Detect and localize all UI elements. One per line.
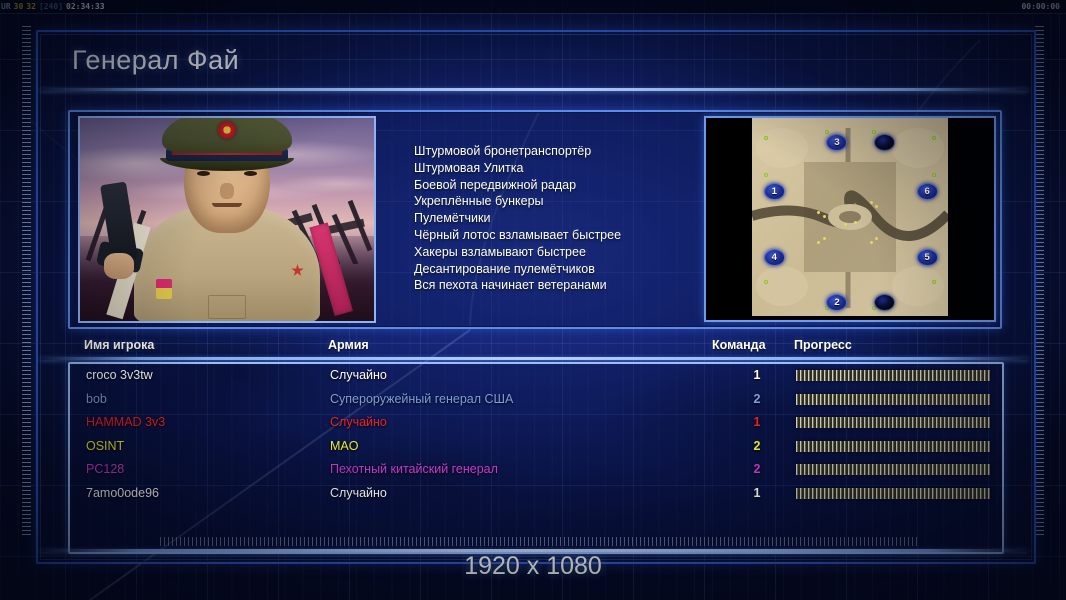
ability-item: Штурмовой бронетранспортёр xyxy=(414,143,704,160)
minimap-preview: 3 1 6 4 5 2 xyxy=(704,116,996,322)
player-name: bob xyxy=(86,388,107,412)
player-progress xyxy=(796,488,990,499)
table-row[interactable]: HAMMAD 3v3Случайно1 xyxy=(70,411,1000,435)
column-header-army: Армия xyxy=(328,338,369,352)
player-army: Пехотный китайский генерал xyxy=(330,458,498,482)
portrait-nose xyxy=(220,183,234,199)
table-row[interactable]: OSINTMAO2 xyxy=(70,435,1000,459)
minimap-terrain-features xyxy=(752,118,948,316)
hud-label: UR xyxy=(1,0,11,13)
hud-value-bracket: [240] xyxy=(39,0,63,13)
player-table-body: croco 3v3twСлучайно1bobСупероружейный ге… xyxy=(70,364,1000,505)
ability-item: Вся пехота начинает ветеранами xyxy=(414,277,704,294)
map-start-position[interactable] xyxy=(874,294,895,311)
hud-value-1: 30 xyxy=(14,0,24,13)
portrait-mouth xyxy=(212,203,242,207)
progress-bar-fill xyxy=(796,417,990,428)
table-header: Имя игрока Армия Команда Прогресс xyxy=(68,338,998,356)
table-row[interactable]: croco 3v3twСлучайно1 xyxy=(70,364,1000,388)
player-army: MAO xyxy=(330,435,358,459)
player-team: 2 xyxy=(742,388,772,412)
column-header-team: Команда xyxy=(712,338,766,352)
player-progress xyxy=(796,441,990,452)
table-row[interactable]: 7amo0ode96Случайно1 xyxy=(70,482,1000,506)
column-header-progress: Прогресс xyxy=(794,338,852,352)
player-team: 1 xyxy=(742,411,772,435)
player-name: PC128 xyxy=(86,458,124,482)
table-row[interactable]: bobСупероружейный генерал США2 xyxy=(70,388,1000,412)
player-army: Случайно xyxy=(330,411,387,435)
header-divider xyxy=(40,357,1028,360)
ability-item: Чёрный лотос взламывает быстрее xyxy=(414,227,704,244)
ability-list: Штурмовой бронетранспортёр Штурмовая Ули… xyxy=(414,143,704,294)
ability-item: Штурмовая Улитка xyxy=(414,160,704,177)
portrait-medal xyxy=(156,279,172,299)
player-team: 1 xyxy=(742,364,772,388)
hud-timer: 00:00:00 xyxy=(1021,0,1060,13)
player-army: Супероружейный генерал США xyxy=(330,388,513,412)
ability-item: Укреплённые бункеры xyxy=(414,193,704,210)
player-army: Случайно xyxy=(330,482,387,506)
portrait-eye-left xyxy=(197,171,210,176)
minimap-terrain: 3 1 6 4 5 2 xyxy=(752,118,948,316)
player-team: 1 xyxy=(742,482,772,506)
portrait-eye-right xyxy=(244,171,257,176)
player-progress xyxy=(796,370,990,381)
map-start-position[interactable]: 4 xyxy=(764,249,785,266)
hud-left-stats: UR 30 32 [240] 02:34:33 xyxy=(1,0,105,13)
table-row[interactable]: PC128Пехотный китайский генерал2 xyxy=(70,458,1000,482)
progress-bar-fill xyxy=(796,441,990,452)
portrait-cap-emblem xyxy=(218,121,236,139)
player-name: HAMMAD 3v3 xyxy=(86,411,165,435)
ability-item: Боевой передвижной радар xyxy=(414,177,704,194)
column-header-name: Имя игрока xyxy=(84,338,154,352)
player-name: croco 3v3tw xyxy=(86,364,153,388)
map-start-position[interactable]: 5 xyxy=(917,249,938,266)
hud-bar: UR 30 32 [240] 02:34:33 00:00:00 xyxy=(0,0,1066,14)
ability-item: Хакеры взламывают быстрее xyxy=(414,244,704,261)
player-progress xyxy=(796,417,990,428)
map-start-position[interactable]: 1 xyxy=(764,183,785,200)
ability-item: Десантирование пулемётчиков xyxy=(414,261,704,278)
hud-value-2: 32 xyxy=(26,0,36,13)
player-progress xyxy=(796,464,990,475)
map-start-position[interactable] xyxy=(874,134,895,151)
title-divider xyxy=(40,88,1028,91)
resolution-label: 1920 x 1080 xyxy=(0,552,1066,581)
hud-elapsed-time: 02:34:33 xyxy=(66,0,105,13)
player-team: 2 xyxy=(742,435,772,459)
progress-bar-fill xyxy=(796,488,990,499)
progress-bar-fill xyxy=(796,370,990,381)
player-army: Случайно xyxy=(330,364,387,388)
general-portrait xyxy=(78,116,376,323)
map-start-position[interactable]: 6 xyxy=(917,183,938,200)
player-progress xyxy=(796,394,990,405)
portrait-hand xyxy=(104,253,134,279)
ability-item: Пулемётчики xyxy=(414,210,704,227)
progress-bar-fill xyxy=(796,464,990,475)
portrait-pocket xyxy=(208,295,246,319)
page-title: Генерал Фай xyxy=(72,45,239,76)
player-team: 2 xyxy=(742,458,772,482)
progress-bar-fill xyxy=(796,394,990,405)
player-name: OSINT xyxy=(86,435,124,459)
loading-screen: UR 30 32 [240] 02:34:33 00:00:00 Генерал… xyxy=(0,0,1066,600)
player-name: 7amo0ode96 xyxy=(86,482,159,506)
